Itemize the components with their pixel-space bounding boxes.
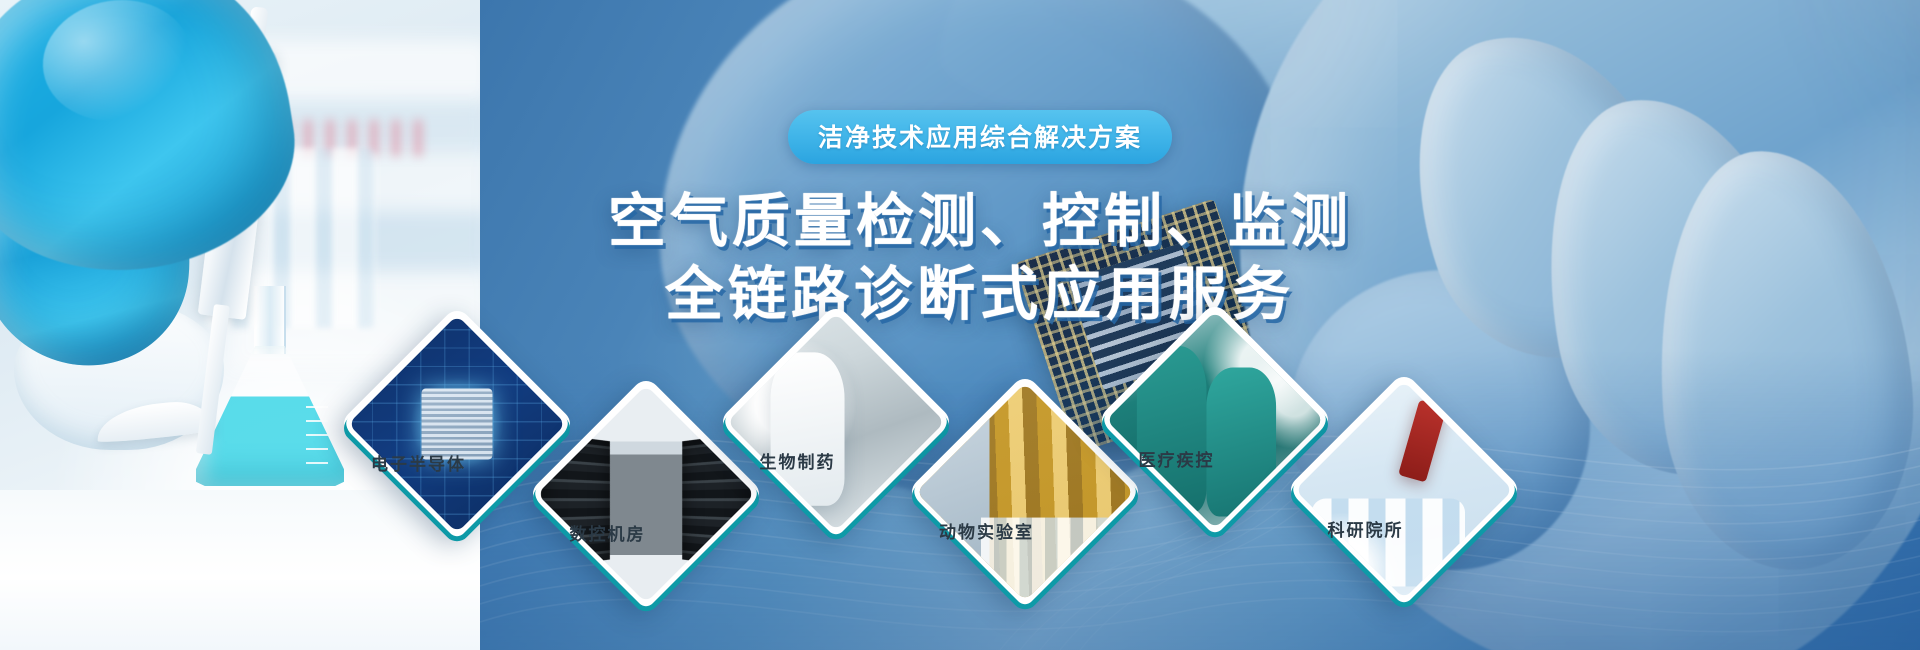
research-institute-icon [1295,381,1513,599]
card-label: 数控机房 [529,520,685,545]
card-label: 动物实验室 [908,518,1064,543]
card-label: 生物制药 [719,448,875,473]
card-thumbnail [1295,381,1513,599]
hero-banner: 洁净技术应用综合解决方案 空气质量检测、控制、监测 全链路诊断式应用服务 电子半… [0,0,1920,650]
card-label: 医疗疾控 [1098,446,1254,471]
card-label: 科研院所 [1287,516,1443,541]
card-label: 电子半导体 [340,450,496,475]
industry-card-row: 电子半导体 数控机房 生物制药 动物实验室 [0,0,1920,650]
